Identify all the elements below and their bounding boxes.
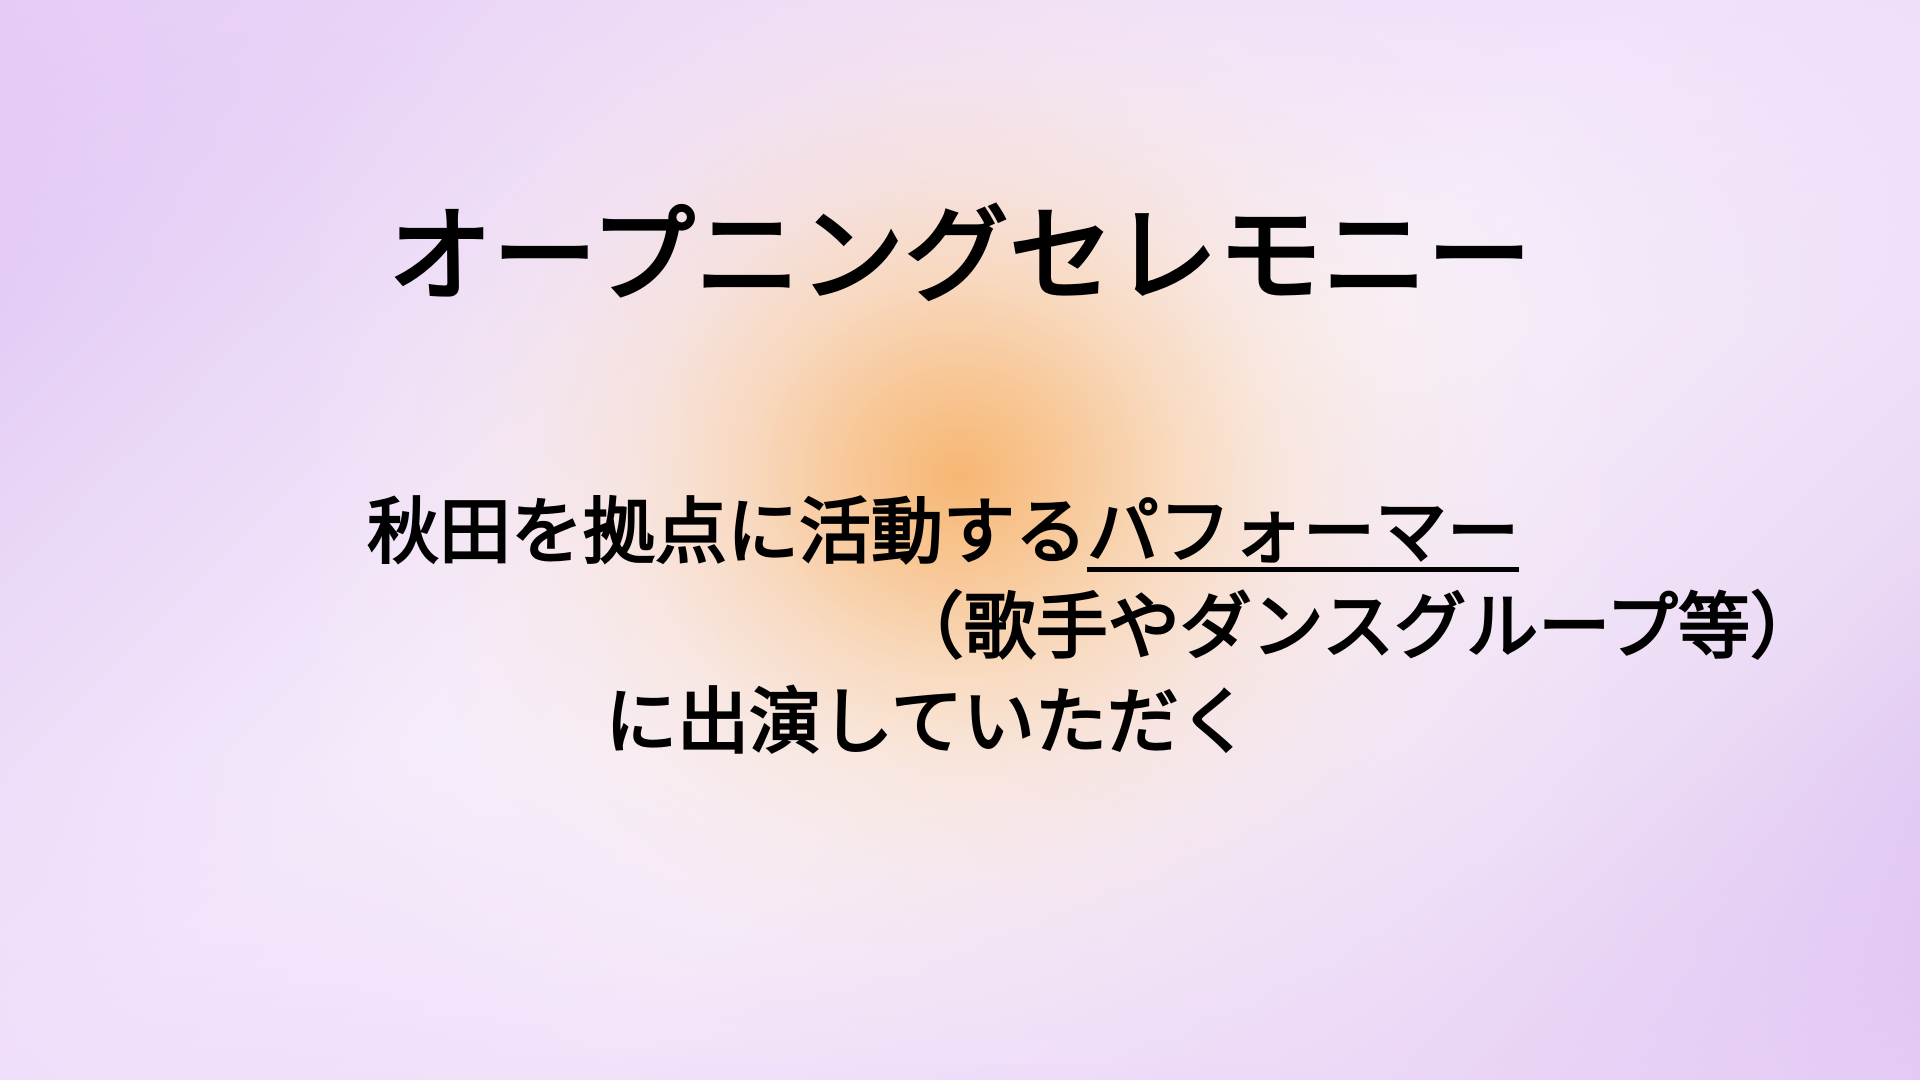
- body-line-2: （歌手やダンスグループ等）: [0, 585, 1920, 670]
- slide-title: オープニングセレモニー: [0, 198, 1920, 314]
- slide-body: 秋田を拠点に活動するパフォーマー （歌手やダンスグループ等） に出演していただく: [0, 490, 1920, 765]
- body-line-3: に出演していただく: [0, 680, 1920, 765]
- slide-content: オープニングセレモニー 秋田を拠点に活動するパフォーマー （歌手やダンスグループ…: [0, 0, 1920, 1080]
- body-line-1-plain-text: 秋田を拠点に活動する: [367, 490, 1087, 574]
- body-line-1: 秋田を拠点に活動するパフォーマー: [0, 490, 1920, 575]
- presentation-slide: オープニングセレモニー 秋田を拠点に活動するパフォーマー （歌手やダンスグループ…: [0, 0, 1920, 1080]
- body-line-1-underlined-text: パフォーマー: [1087, 490, 1519, 574]
